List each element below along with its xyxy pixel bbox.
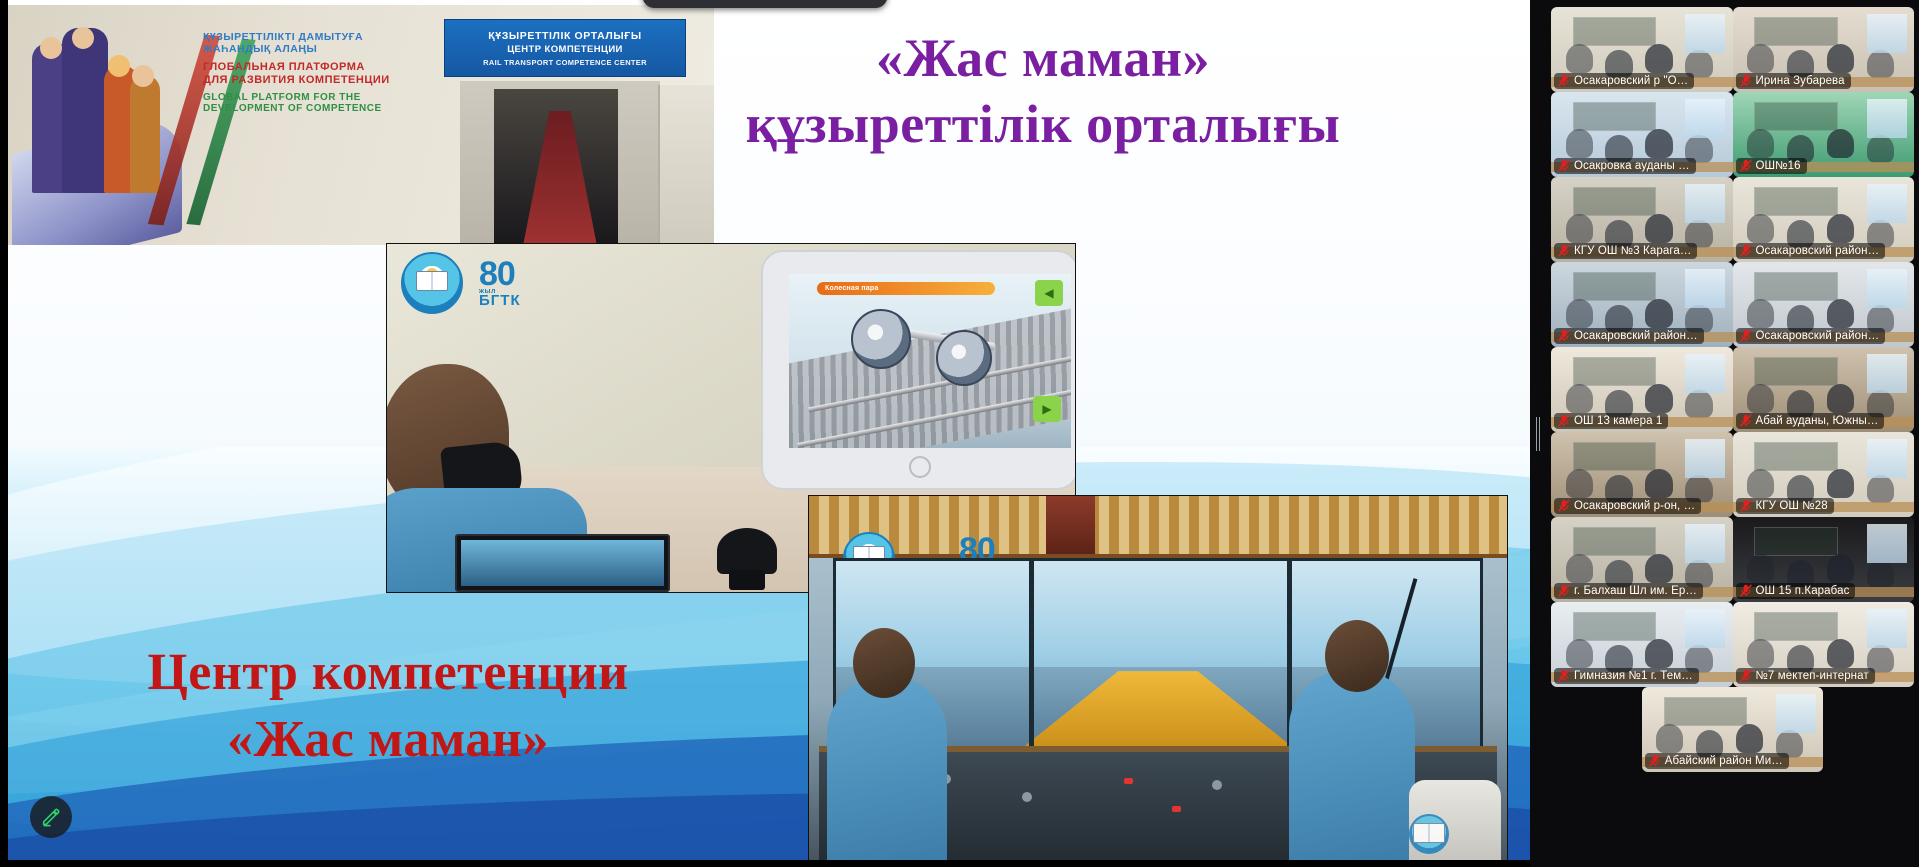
mic-muted-icon (1558, 499, 1570, 512)
trainee-right-head (1325, 620, 1389, 692)
participant-name: Осакаровский район… (1574, 330, 1698, 342)
wheelset-wheel-left (851, 309, 911, 369)
participant-label: Абайский район Ми… (1645, 753, 1789, 769)
slide-title: «Жас маман» құзыреттілік орталығы (648, 26, 1438, 158)
participant-tile[interactable]: Абай ауданы, Южны… (1733, 347, 1915, 432)
resize-grip-icon (1535, 417, 1541, 451)
annotate-button[interactable] (30, 796, 72, 838)
mural-railway-staff-graphic (28, 23, 178, 193)
participant-name: Осакаровский р "О… (1574, 75, 1688, 87)
participant-name: ОШ 13 камера 1 (1574, 415, 1662, 427)
corridor-carpet (522, 111, 598, 245)
participant-name: Абай ауданы, Южны… (1756, 415, 1879, 427)
participant-tile[interactable]: Осакаровский район… (1733, 177, 1915, 262)
tablet-screen: Колесная пара (789, 274, 1071, 448)
slide-title-line-1: «Жас маман» (648, 26, 1438, 92)
slide-subtitle: Центр компетенции «Жас маман» (38, 640, 738, 773)
mic-muted-icon (1649, 754, 1661, 767)
photo-competence-center-corridor: ҚҰЗЫРЕТТІЛІКТІ ДАМЫТУҒА ЖАҺАНДЫҚ АЛАҢЫ Г… (8, 5, 714, 245)
participant-tile[interactable]: г. Балхаш Шл им. Ер… (1551, 517, 1733, 602)
participant-name: Ирина Зубарева (1756, 75, 1845, 87)
participant-name: КГУ ОШ №28 (1756, 500, 1828, 512)
participant-label: ОШ№16 (1736, 158, 1807, 174)
participant-tile[interactable]: Осакровка ауданы … (1551, 92, 1733, 177)
mic-muted-icon (1740, 74, 1752, 87)
participant-name: Гимназия №1 г. Тем… (1574, 670, 1693, 682)
sign-kazakh-text: ҚҰЗЫРЕТТІЛІК ОРТАЛЫҒЫ (488, 30, 641, 42)
participant-label: ОШ 15 п.Карабас (1736, 583, 1856, 599)
slide-subtitle-line-1: Центр компетенции (38, 640, 738, 707)
mic-muted-icon (1558, 329, 1570, 342)
mic-muted-icon (1740, 329, 1752, 342)
participant-label: Абай ауданы, Южны… (1736, 413, 1885, 429)
tablet-back-icon[interactable] (1035, 280, 1063, 306)
panel-resize-handle[interactable] (1530, 0, 1546, 867)
participant-tile[interactable]: Осакаровский р "О… (1551, 7, 1733, 92)
mic-muted-icon (1740, 159, 1752, 172)
photo-locomotive-cab-simulator: 80 БГТК (808, 495, 1508, 860)
mic-muted-icon (1740, 414, 1752, 427)
participant-label: Осакаровский р "О… (1554, 73, 1694, 89)
classroom-camera (717, 528, 777, 574)
mic-muted-icon (1740, 499, 1752, 512)
participant-label: КГУ ОШ №3 Карага… (1554, 243, 1697, 259)
badge-abbr: БГТК (479, 295, 521, 308)
participant-label: ОШ 13 камера 1 (1554, 413, 1668, 429)
participant-label: г. Балхаш Шл им. Ер… (1554, 583, 1703, 599)
pencil-icon (40, 806, 62, 828)
participant-label: Осакровка ауданы … (1554, 158, 1696, 174)
laptop (455, 534, 670, 592)
wheelset-wheel-right (936, 330, 992, 386)
mic-muted-icon (1740, 584, 1752, 597)
participant-name: КГУ ОШ №3 Карага… (1574, 245, 1691, 257)
participant-tile[interactable]: Осакаровский р-он, … (1551, 432, 1733, 517)
simulator-trainee-right (1289, 670, 1415, 860)
participant-label: Осакаровский р-он, … (1554, 498, 1701, 514)
participant-tile[interactable]: КГУ ОШ №3 Карага… (1551, 177, 1733, 262)
mic-muted-icon (1740, 244, 1752, 257)
tablet-play-icon[interactable] (1033, 396, 1061, 422)
participant-name: Осакаровский район… (1756, 245, 1880, 257)
trainee-left-head (853, 628, 915, 698)
meeting-controls-pill[interactable] (643, 0, 888, 8)
participant-label: №7 мектеп-интернат (1736, 668, 1875, 684)
participant-tile[interactable]: Ирина Зубарева (1733, 7, 1915, 92)
sign-english-text: RAIL TRANSPORT COMPETENCE CENTER (483, 58, 647, 67)
participant-name: ОШ 15 п.Карабас (1756, 585, 1850, 597)
participant-tile[interactable]: Осакаровский район… (1551, 262, 1733, 347)
mic-muted-icon (1558, 244, 1570, 257)
bgtk-watermark-icon (1409, 814, 1449, 854)
shared-screen-region[interactable]: ҚҰЗЫРЕТТІЛІКТІ ДАМЫТУҒА ЖАҺАНДЫҚ АЛАҢЫ Г… (0, 0, 1530, 867)
participant-tile[interactable]: Осакаровский район… (1733, 262, 1915, 347)
participant-name: Осакаровский район… (1756, 330, 1880, 342)
participant-name: г. Балхаш Шл им. Ер… (1574, 585, 1697, 597)
training-tablet: Колесная пара (761, 250, 1076, 490)
mic-muted-icon (1558, 669, 1570, 682)
participant-tile[interactable]: ОШ№16 (1733, 92, 1915, 177)
participant-label: Осакаровский район… (1736, 243, 1886, 259)
participant-name: Осакаровский р-он, … (1574, 500, 1695, 512)
slide-title-line-2: құзыреттілік орталығы (648, 92, 1438, 158)
participant-label: Осакаровский район… (1554, 328, 1704, 344)
participant-label: Ирина Зубарева (1736, 73, 1851, 89)
tablet-home-button (909, 456, 931, 478)
participant-label: Осакаровский район… (1736, 328, 1886, 344)
participant-tile[interactable]: ОШ 13 камера 1 (1551, 347, 1733, 432)
zoom-meeting-window: ҚҰЗЫРЕТТІЛІКТІ ДАМЫТУҒА ЖАҺАНДЫҚ АЛАҢЫ Г… (0, 0, 1919, 867)
participant-tile[interactable]: Абайский район Ми… (1642, 687, 1824, 772)
participant-gallery: Осакаровский р "О…Ирина ЗубареваОсакровк… (1551, 7, 1914, 772)
participant-gallery-panel[interactable]: Осакаровский р "О…Ирина ЗубареваОсакровк… (1546, 0, 1919, 867)
mic-muted-icon (1558, 584, 1570, 597)
simulator-curtain (809, 496, 1507, 558)
mic-muted-icon (1558, 159, 1570, 172)
rail-ballast (789, 308, 1071, 448)
sign-russian-text: ЦЕНТР КОМПЕТЕНЦИИ (507, 44, 623, 55)
bgtk-logo-icon (401, 252, 463, 314)
participant-name: ОШ№16 (1756, 160, 1801, 172)
simulator-trainee-left (827, 676, 947, 860)
participant-label: Гимназия №1 г. Тем… (1554, 668, 1699, 684)
corridor-view (460, 81, 660, 245)
participant-tile[interactable]: Гимназия №1 г. Тем… (1551, 602, 1733, 687)
participant-name: Абайский район Ми… (1665, 755, 1783, 767)
slide-subtitle-line-2: «Жас маман» (38, 707, 738, 774)
participant-name: №7 мектеп-интернат (1756, 670, 1869, 682)
badge-number: 80 (479, 260, 521, 289)
participant-name: Осакровка ауданы … (1574, 160, 1690, 172)
tablet-screen-title: Колесная пара (817, 282, 995, 295)
participant-tile[interactable]: КГУ ОШ №28 (1733, 432, 1915, 517)
participant-tile[interactable]: ОШ 15 п.Карабас (1733, 517, 1915, 602)
participant-label: КГУ ОШ №28 (1736, 498, 1834, 514)
mic-muted-icon (1740, 669, 1752, 682)
mic-muted-icon (1558, 414, 1570, 427)
anniversary-badge-80: 80 жыл БГТК (479, 260, 521, 308)
participant-tile[interactable]: №7 мектеп-интернат (1733, 602, 1915, 687)
presentation-slide: ҚҰЗЫРЕТТІЛІКТІ ДАМЫТУҒА ЖАҺАНДЫҚ АЛАҢЫ Г… (8, 0, 1530, 860)
mic-muted-icon (1558, 74, 1570, 87)
